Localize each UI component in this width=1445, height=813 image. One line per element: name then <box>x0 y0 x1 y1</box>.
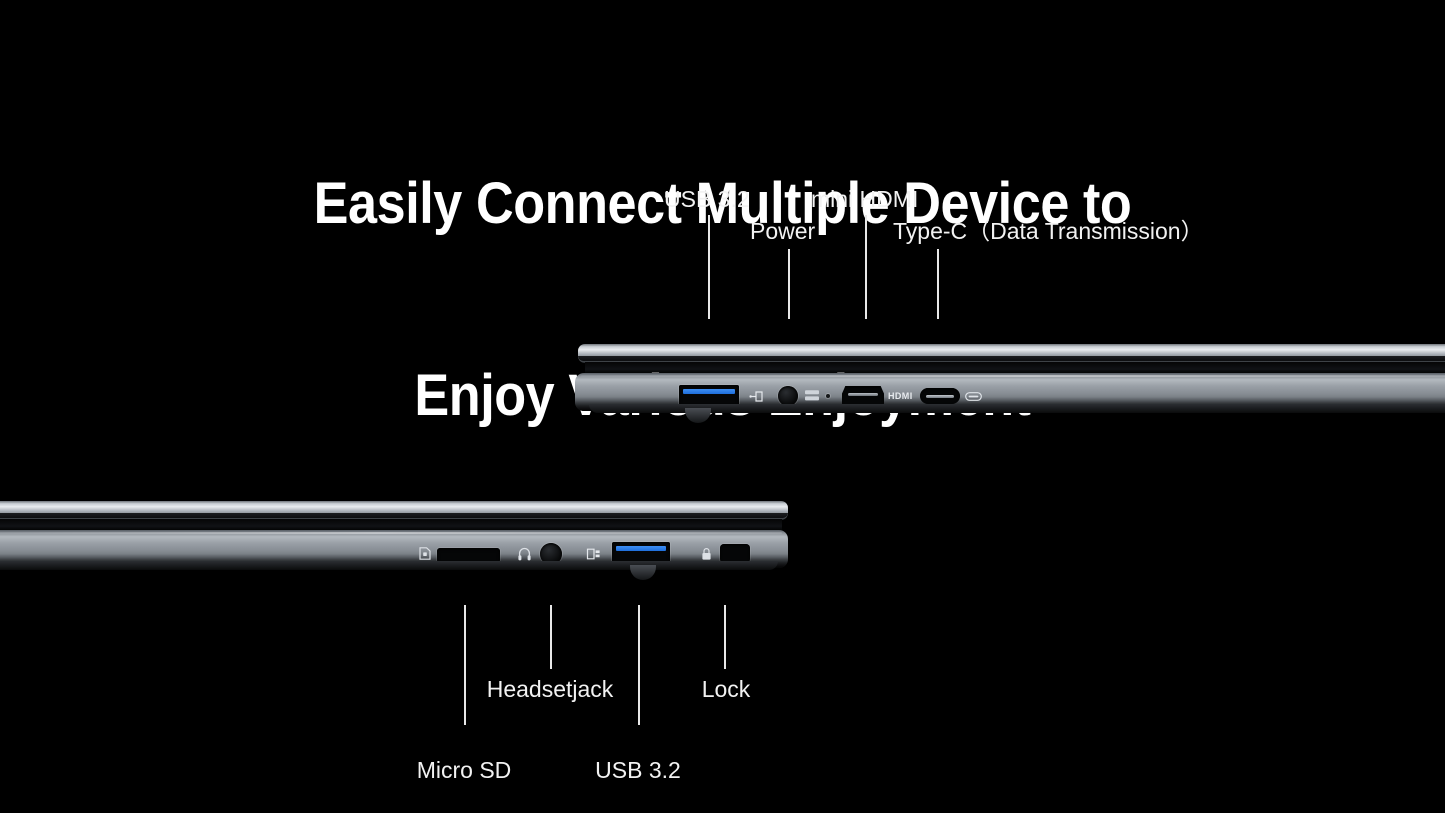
laptop-underside-taper <box>589 404 1445 413</box>
chassis-top-highlight <box>581 375 1445 377</box>
usb-icon <box>749 391 763 402</box>
usb-blue-insert <box>616 546 666 551</box>
callout-label-usb32-bottom: USB 3.2 <box>595 757 681 783</box>
product-feature-slide: Easily Connect Multiple Device to Enjoy … <box>0 0 1445 813</box>
port-usb32-top[interactable] <box>679 385 739 406</box>
callout-label-power: Power <box>750 218 815 244</box>
laptop-lid-underside <box>578 356 1445 361</box>
laptop-top-right-side: HDMI <box>575 340 1445 440</box>
port-power-jack[interactable] <box>778 386 798 406</box>
port-usb32-bottom[interactable] <box>612 542 670 563</box>
headphone-icon <box>518 547 531 561</box>
page-title: Easily Connect Multiple Device to Enjoy … <box>72 44 1373 556</box>
callout-label-usb32-top: USB 3.2 <box>664 186 750 212</box>
laptop-bottom-left-side <box>0 497 790 597</box>
callout-label-lock: Lock <box>702 676 751 702</box>
type-c-icon <box>965 392 982 401</box>
usb-icon <box>586 548 601 560</box>
laptop-lid-edge <box>578 344 1445 363</box>
port-mini-hdmi[interactable] <box>842 386 884 406</box>
leader-line-headsetjack <box>550 605 552 669</box>
usb-blue-insert <box>683 389 735 394</box>
callout-label-mini-hdmi: mini HDMI <box>811 186 918 212</box>
port-type-c[interactable] <box>920 388 960 404</box>
type-c-contact-bar <box>926 395 954 398</box>
callout-label-micro-sd: Micro SD <box>417 757 512 783</box>
dc-in-icon <box>804 389 820 403</box>
hdmi-contact-bar <box>848 393 878 396</box>
leader-line-micro-sd <box>464 605 466 725</box>
leader-line-mini-hdmi <box>865 215 867 319</box>
hdmi-icon: HDMI <box>888 391 913 401</box>
callout-label-headsetjack: Headsetjack <box>487 676 614 702</box>
laptop-foot-bump <box>685 408 711 423</box>
laptop-lid-edge <box>0 501 788 520</box>
leader-line-lock <box>724 605 726 669</box>
power-led-indicator <box>826 394 830 398</box>
laptop-lid-underside <box>0 513 788 518</box>
sd-card-icon <box>419 546 431 561</box>
leader-line-usb32-bottom <box>638 605 640 725</box>
lock-icon <box>701 547 712 561</box>
callout-label-type-c: Type-C（Data Transmission） <box>893 218 1204 244</box>
laptop-foot-bump <box>630 565 656 580</box>
laptop-underside-taper <box>0 561 778 570</box>
chassis-top-highlight <box>0 532 782 534</box>
leader-line-type-c <box>937 249 939 319</box>
leader-line-power <box>788 249 790 319</box>
leader-line-usb32-top <box>708 215 710 319</box>
